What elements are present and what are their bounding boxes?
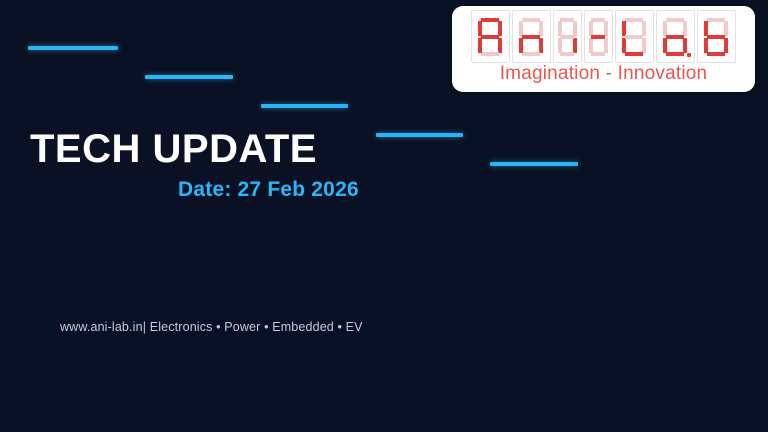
segment-e xyxy=(663,38,667,53)
segment-a xyxy=(707,18,725,22)
segment-a xyxy=(560,18,574,22)
segment-f xyxy=(478,21,482,36)
segment-g xyxy=(522,35,540,39)
headline-block: TECH UPDATE Date: 27 Feb 2026 xyxy=(30,128,450,202)
segment-a xyxy=(522,18,540,22)
segment-c xyxy=(724,38,728,53)
segment-char-n xyxy=(512,10,551,63)
segment-e xyxy=(558,38,562,53)
segment-g xyxy=(666,35,684,39)
segment-c xyxy=(604,38,608,53)
slide-canvas: Imagination - Innovation TECH UPDATE Dat… xyxy=(0,0,768,432)
footer-website: www.ani-lab.in xyxy=(60,320,143,334)
footer: www.ani-lab.in| Electronics • Power • Em… xyxy=(60,320,363,334)
segment-g xyxy=(481,35,499,39)
segment-f xyxy=(558,21,562,36)
segment-b xyxy=(724,21,728,36)
segment-c xyxy=(683,38,687,53)
segment-char-A xyxy=(471,10,510,63)
accent-bar-5 xyxy=(490,162,578,166)
segment-b xyxy=(539,21,543,36)
segment-g xyxy=(625,35,643,39)
segment-a xyxy=(666,18,684,22)
segment-e xyxy=(589,38,593,53)
segment-d xyxy=(666,52,684,56)
segment-d xyxy=(707,52,725,56)
segment-char-a xyxy=(656,10,695,63)
segment-e xyxy=(519,38,523,53)
segment-d xyxy=(481,52,499,56)
segment-c xyxy=(498,38,502,53)
segment-char-dash xyxy=(584,10,613,63)
segment-g xyxy=(707,35,725,39)
segment-f xyxy=(622,21,626,36)
accent-bar-3 xyxy=(261,104,348,108)
segment-a xyxy=(591,18,605,22)
segment-e xyxy=(478,38,482,53)
segment-a xyxy=(481,18,499,22)
segment-decimal-point xyxy=(687,53,691,57)
segment-d xyxy=(560,52,574,56)
ani-lab-logo: Imagination - Innovation xyxy=(452,6,755,92)
segment-c xyxy=(642,38,646,53)
segment-char-b xyxy=(697,10,736,63)
segment-b xyxy=(642,21,646,36)
segment-f xyxy=(589,21,593,36)
logo-tagline: Imagination - Innovation xyxy=(500,64,708,83)
segment-char-i xyxy=(553,10,582,63)
segment-b xyxy=(683,21,687,36)
segment-e xyxy=(704,38,708,53)
segment-f xyxy=(704,21,708,36)
segment-f xyxy=(663,21,667,36)
date-label: Date: 27 Feb 2026 xyxy=(30,178,450,202)
segment-c xyxy=(539,38,543,53)
accent-bar-2 xyxy=(145,75,233,79)
segment-d xyxy=(625,52,643,56)
segment-d xyxy=(522,52,540,56)
segment-d xyxy=(591,52,605,56)
footer-separator: | xyxy=(143,320,150,334)
segment-f xyxy=(519,21,523,36)
segment-c xyxy=(573,38,577,53)
segment-g xyxy=(591,35,605,39)
segment-char-L xyxy=(615,10,654,63)
segment-e xyxy=(622,38,626,53)
footer-topics: Electronics • Power • Embedded • EV xyxy=(150,320,363,334)
segment-g xyxy=(560,35,574,39)
segment-b xyxy=(498,21,502,36)
segment-b xyxy=(604,21,608,36)
segment-b xyxy=(573,21,577,36)
segment-a xyxy=(625,18,643,22)
seven-segment-display xyxy=(471,10,736,63)
accent-bar-1 xyxy=(28,46,118,50)
page-title: TECH UPDATE xyxy=(30,128,450,170)
